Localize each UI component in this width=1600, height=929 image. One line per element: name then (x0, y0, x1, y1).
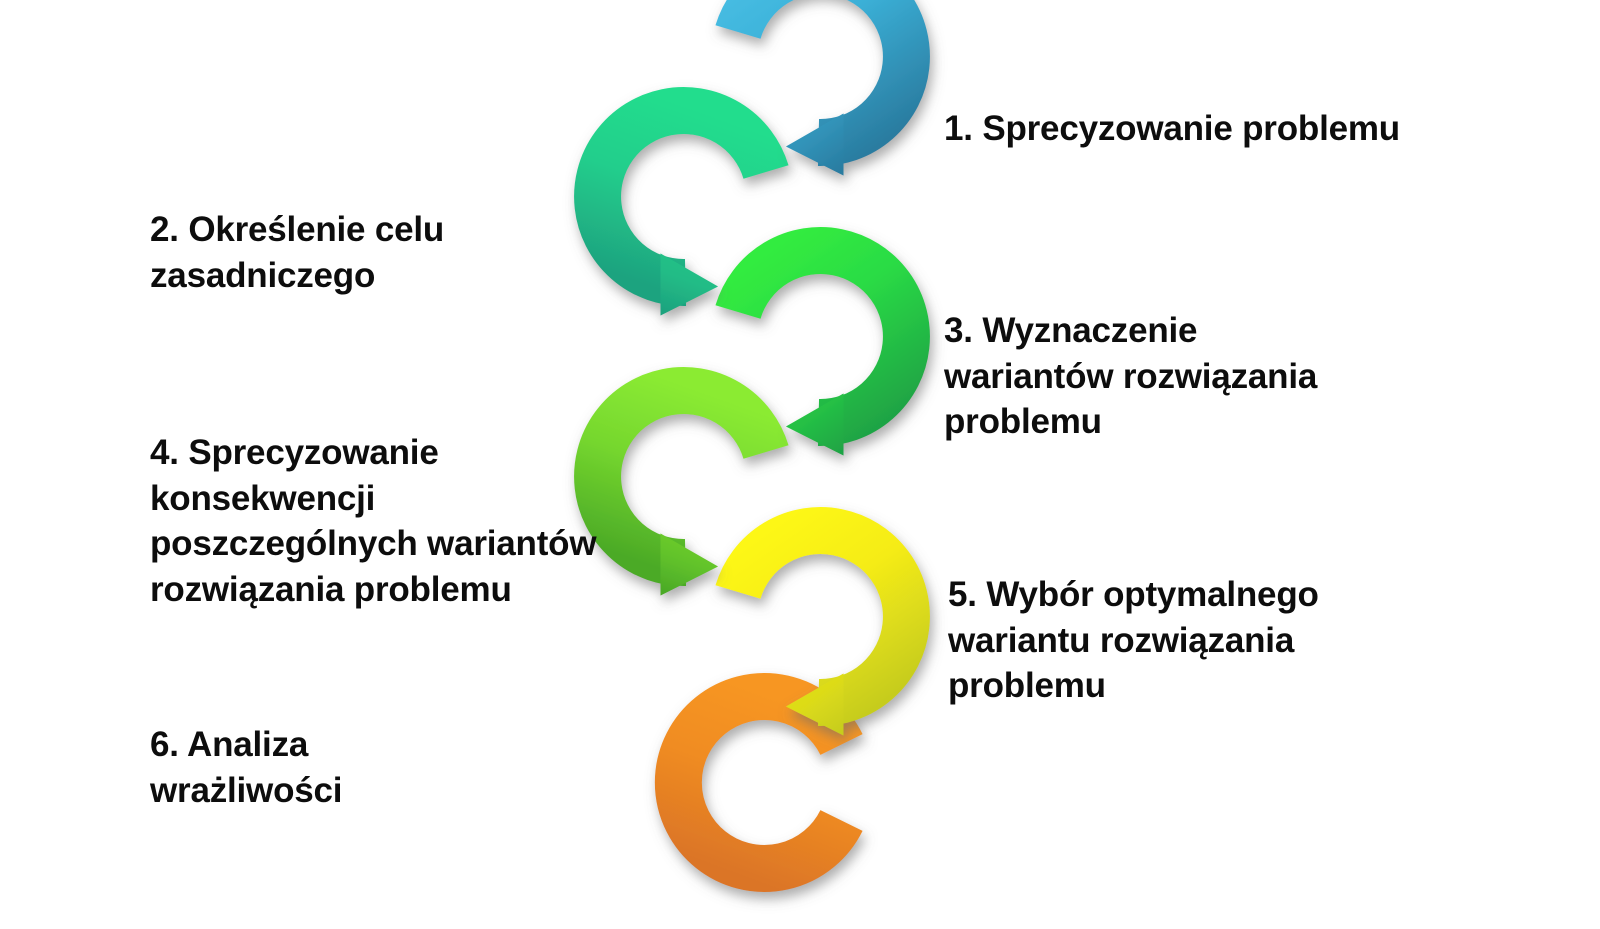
step-label-4: 4. Sprecyzowanie konsekwencji poszczegól… (150, 430, 630, 612)
step-label-5: 5. Wybór optymalnego wariantu rozwiązani… (948, 572, 1378, 709)
ring-step-6 (678, 697, 841, 869)
step-label-2: 2. Określenie celu zasadniczego (150, 207, 590, 298)
step-label-3: 3. Wyznaczenie wariantów rozwiązania pro… (944, 308, 1374, 445)
step-label-1: 1. Sprecyzowanie problemu (944, 106, 1464, 152)
step-label-6: 6. Analiza wrażliwości (150, 722, 550, 813)
slide-canvas: 1. Sprecyzowanie problemu 2. Określenie … (0, 0, 1600, 929)
